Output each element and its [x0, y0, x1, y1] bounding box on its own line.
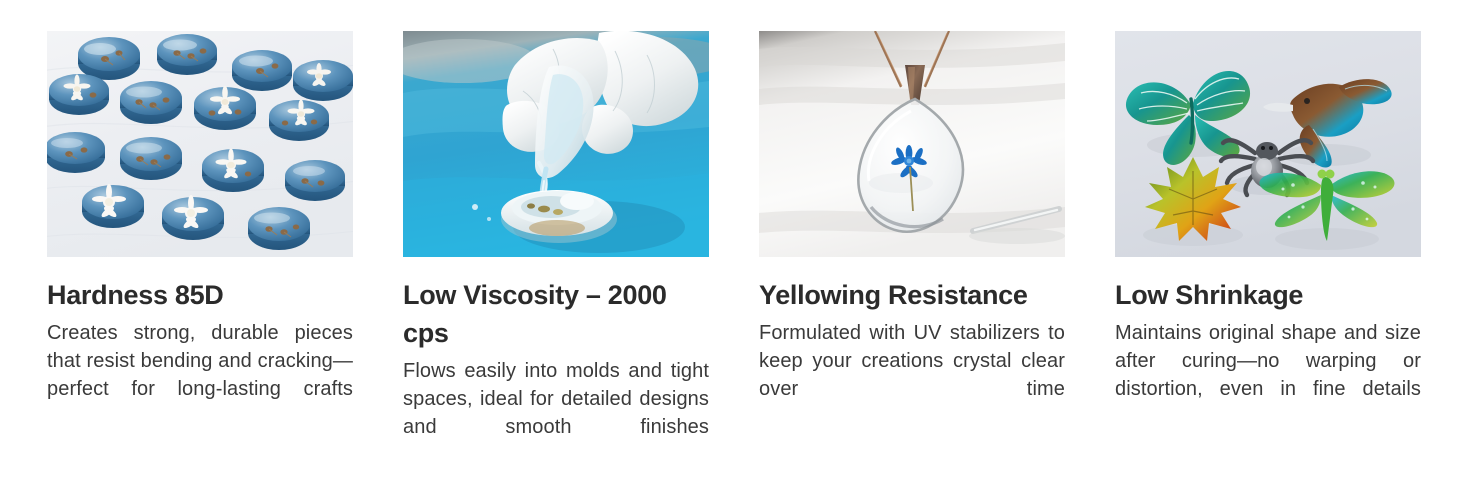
feature-description: Formulated with UV stabilizers to keep y…	[759, 319, 1065, 431]
feature-title: Low Shrinkage	[1115, 276, 1421, 314]
blue-resin-flower-discs-photo	[47, 31, 353, 257]
pouring-resin-into-mold-photo	[403, 31, 709, 257]
feature-card-low-viscosity: Low Viscosity – 2000 cps Flows easily in…	[403, 31, 709, 469]
feature-card-hardness: Hardness 85D Creates strong, durable pie…	[47, 31, 353, 431]
feature-card-yellowing-resistance: Yellowing Resistance Formulated with UV …	[759, 31, 1065, 431]
feature-title: Yellowing Resistance	[759, 276, 1065, 314]
feature-title: Low Viscosity – 2000 cps	[403, 276, 709, 352]
resin-animal-figurines-photo	[1115, 31, 1421, 257]
feature-title: Hardness 85D	[47, 276, 353, 314]
feature-description: Flows easily into molds and tight spaces…	[403, 357, 709, 469]
features-row: Hardness 85D Creates strong, durable pie…	[0, 0, 1464, 500]
feature-description: Maintains original shape and size after …	[1115, 319, 1421, 431]
feature-card-low-shrinkage: Low Shrinkage Maintains original shape a…	[1115, 31, 1421, 431]
teardrop-resin-pendant-photo	[759, 31, 1065, 257]
feature-description: Creates strong, durable pieces that resi…	[47, 319, 353, 431]
